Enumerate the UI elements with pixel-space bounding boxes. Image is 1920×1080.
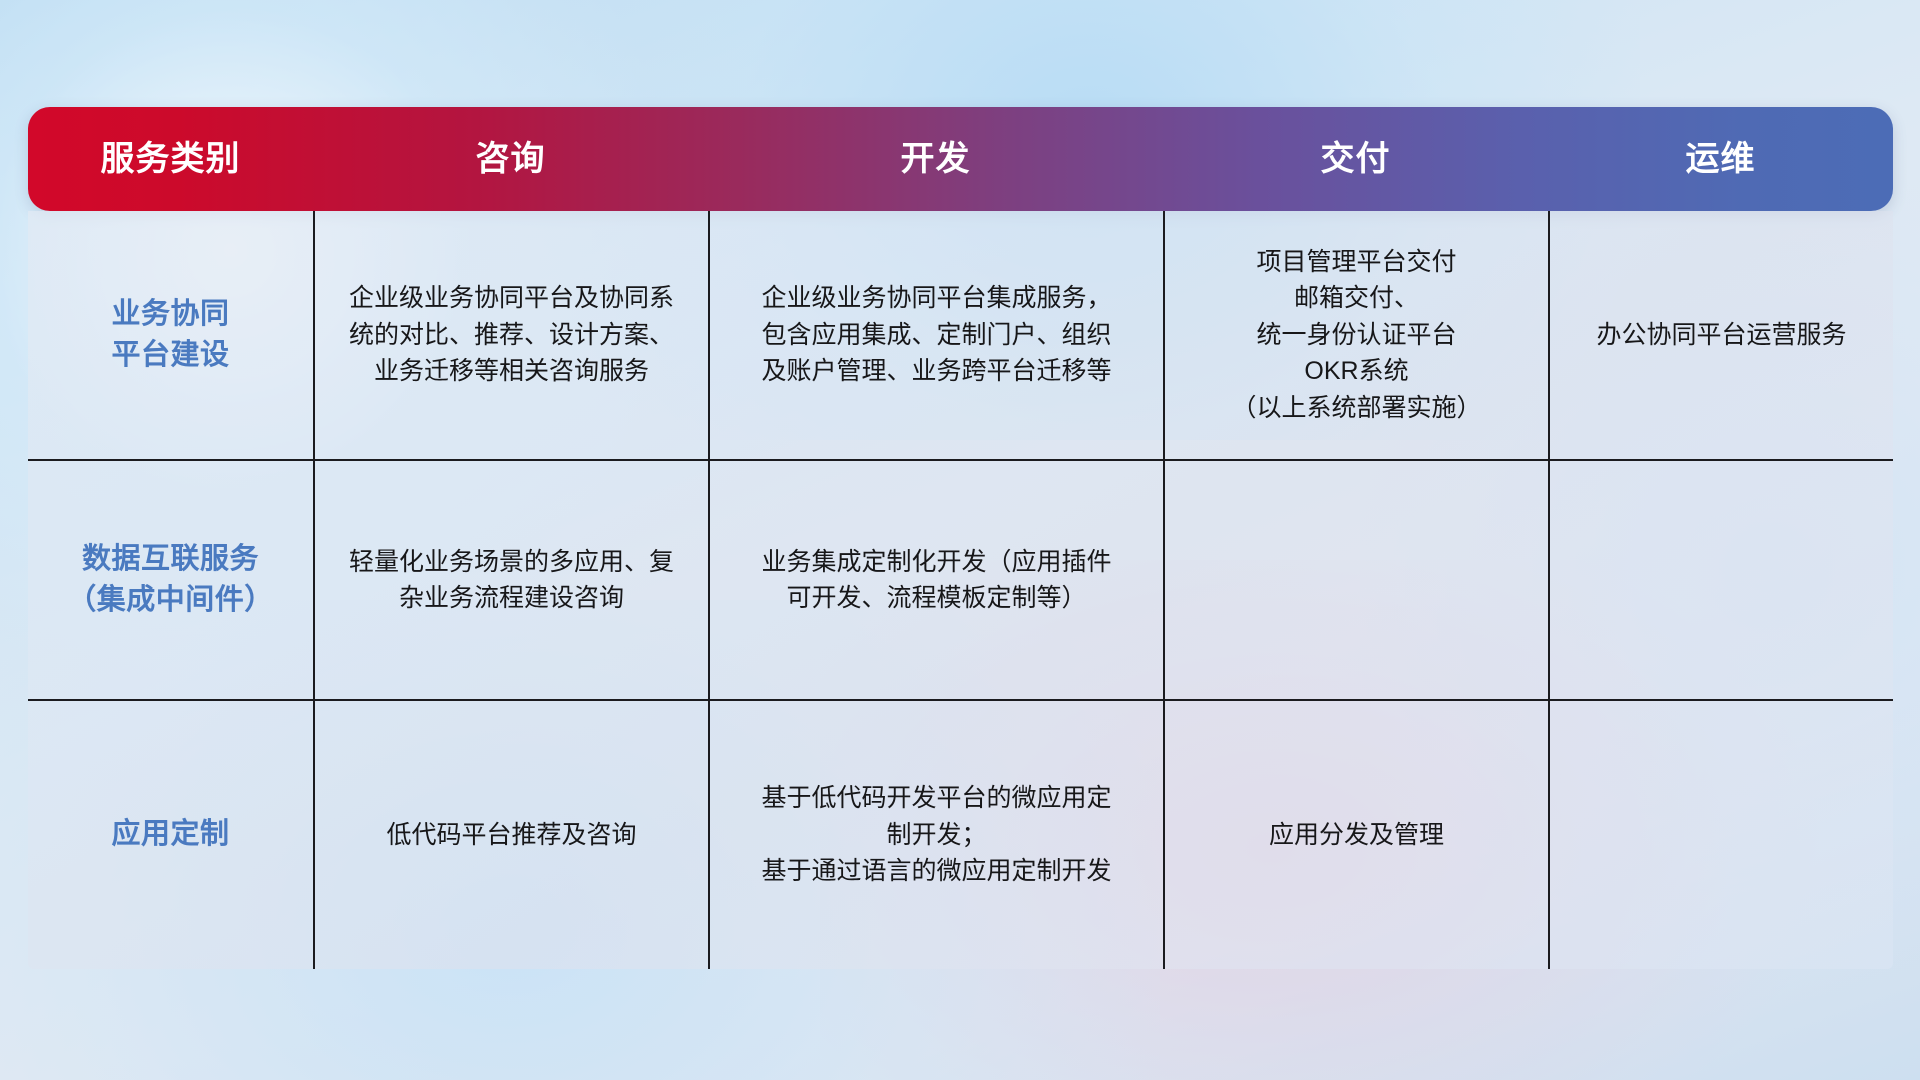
cell-development: 基于低代码开发平台的微应用定 制开发； 基于通过语言的微应用定制开发	[708, 701, 1163, 969]
cell-operations: 办公协同平台运营服务	[1548, 211, 1893, 459]
cell-delivery	[1163, 461, 1548, 699]
row-label-text: 业务协同 平台建设	[111, 294, 229, 376]
table-row: 业务协同 平台建设 企业级业务协同平台及协同系 统的对比、推荐、设计方案、 业务…	[28, 211, 1893, 459]
cell-development: 企业级业务协同平台集成服务， 包含应用集成、定制门户、组织 及账户管理、业务跨平…	[708, 211, 1163, 459]
service-matrix-table: 服务类别 咨询 开发 交付 运维 业务协同 平台建设 企业级业务协同平台及协同系…	[28, 107, 1893, 969]
cell-text: 应用分发及管理	[1269, 817, 1444, 854]
column-header-consulting: 咨询	[313, 142, 708, 176]
row-label-cell: 数据互联服务 （集成中间件）	[28, 461, 313, 699]
cell-text: 企业级业务协同平台及协同系 统的对比、推荐、设计方案、 业务迁移等相关咨询服务	[349, 280, 674, 390]
cell-text: 低代码平台推荐及咨询	[386, 817, 636, 854]
cell-text: 项目管理平台交付 邮箱交付、 统一身份认证平台 OKR系统 （以上系统部署实施）	[1231, 244, 1481, 427]
row-label-cell: 业务协同 平台建设	[28, 211, 313, 459]
row-label-text: 数据互联服务 （集成中间件）	[67, 539, 274, 621]
cell-operations	[1548, 461, 1893, 699]
cell-text: 办公协同平台运营服务	[1596, 317, 1846, 354]
cell-consulting: 低代码平台推荐及咨询	[313, 701, 708, 969]
cell-text: 企业级业务协同平台集成服务， 包含应用集成、定制门户、组织 及账户管理、业务跨平…	[761, 280, 1111, 390]
table-row: 应用定制 低代码平台推荐及咨询 基于低代码开发平台的微应用定 制开发； 基于通过…	[28, 699, 1893, 969]
table-body: 业务协同 平台建设 企业级业务协同平台及协同系 统的对比、推荐、设计方案、 业务…	[28, 211, 1893, 969]
cell-development: 业务集成定制化开发（应用插件 可开发、流程模板定制等）	[708, 461, 1163, 699]
column-header-category: 服务类别	[28, 142, 313, 176]
column-header-operations: 运维	[1548, 142, 1893, 176]
column-header-development: 开发	[708, 142, 1163, 176]
cell-delivery: 项目管理平台交付 邮箱交付、 统一身份认证平台 OKR系统 （以上系统部署实施）	[1163, 211, 1548, 459]
cell-text: 业务集成定制化开发（应用插件 可开发、流程模板定制等）	[761, 544, 1111, 617]
row-label-text: 应用定制	[111, 814, 229, 855]
cell-consulting: 企业级业务协同平台及协同系 统的对比、推荐、设计方案、 业务迁移等相关咨询服务	[313, 211, 708, 459]
cell-delivery: 应用分发及管理	[1163, 701, 1548, 969]
cell-operations	[1548, 701, 1893, 969]
table-header-row: 服务类别 咨询 开发 交付 运维	[28, 107, 1893, 211]
table-row: 数据互联服务 （集成中间件） 轻量化业务场景的多应用、复 杂业务流程建设咨询 业…	[28, 459, 1893, 699]
cell-text: 轻量化业务场景的多应用、复 杂业务流程建设咨询	[349, 544, 674, 617]
cell-consulting: 轻量化业务场景的多应用、复 杂业务流程建设咨询	[313, 461, 708, 699]
row-label-cell: 应用定制	[28, 701, 313, 969]
column-header-delivery: 交付	[1163, 142, 1548, 176]
cell-text: 基于低代码开发平台的微应用定 制开发； 基于通过语言的微应用定制开发	[761, 780, 1111, 890]
